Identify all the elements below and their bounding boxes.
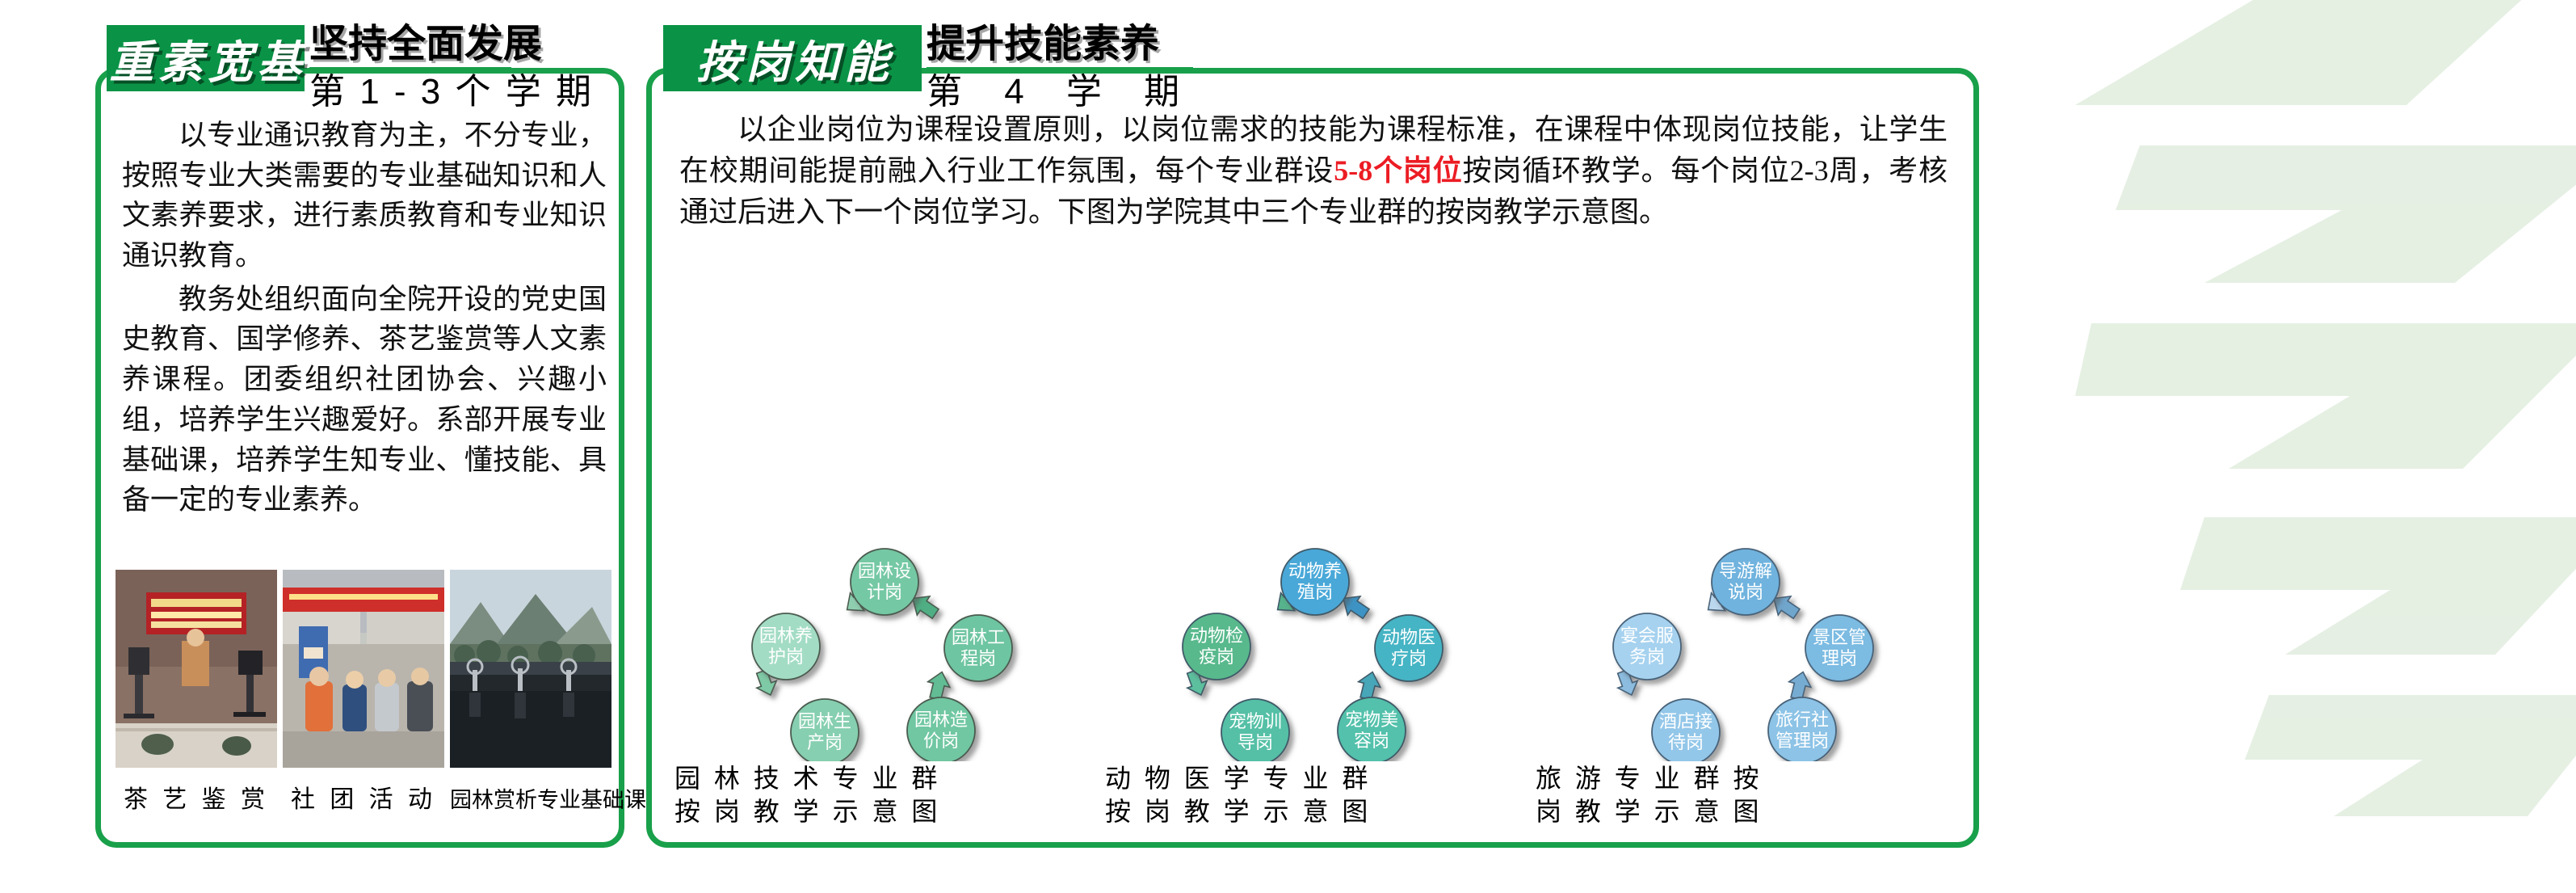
svg-text:产岗: 产岗 (807, 732, 843, 752)
caption-line-1: 园 林 技 术 专 业 群 (674, 762, 1099, 795)
svg-text:计岗: 计岗 (867, 582, 902, 602)
svg-text:说岗: 说岗 (1728, 582, 1763, 602)
svg-text:旅行社: 旅行社 (1775, 710, 1829, 730)
svg-text:酒店接: 酒店接 (1659, 711, 1712, 731)
svg-text:导岗: 导岗 (1238, 732, 1273, 752)
svg-text:园林生: 园林生 (798, 711, 851, 731)
left-banner-label: 重素宽基 (107, 25, 305, 91)
caption-line-2: 岗 教 学 示 意 图 (1536, 795, 1960, 828)
svg-text:宠物训: 宠物训 (1229, 711, 1282, 731)
left-panel-header: 重素宽基 坚持全面发展 第 1 - 3 个 学 期 (107, 25, 594, 110)
svg-text:导游解: 导游解 (1719, 561, 1772, 581)
svg-text:动物养: 动物养 (1288, 561, 1342, 581)
left-paragraph-1: 以专业通识教育为主，不分专业，按照专业大类需要的专业基础知识和人文素养要求，进行… (122, 116, 607, 276)
right-banner-label: 按岗知能 (663, 25, 922, 91)
right-body-text: 以企业岗位为课程设置原则，以岗位需求的技能为课程标准，在课程中体现岗位技能，让学… (679, 109, 1948, 236)
left-panel: 重素宽基 坚持全面发展 第 1 - 3 个 学 期 以专业通识教育为主，不分专业… (95, 68, 624, 848)
photo-strip (116, 570, 612, 768)
cycle-caption-row: 园 林 技 术 专 业 群 按 岗 教 学 示 意 图 动 物 医 学 专 业 … (668, 762, 1960, 831)
highlight-post-count: 5-8个岗位 (1334, 154, 1462, 187)
svg-text:动物医: 动物医 (1382, 627, 1435, 647)
right-panel-header: 按岗知能 提升技能素养 第 4 学 期 (663, 25, 1196, 110)
right-title-stack: 提升技能素养 第 4 学 期 (927, 25, 1196, 110)
right-paragraph: 以企业岗位为课程设置原则，以岗位需求的技能为课程标准，在课程中体现岗位技能，让学… (679, 109, 1948, 233)
svg-text:园林设: 园林设 (858, 561, 911, 581)
svg-text:理岗: 理岗 (1822, 648, 1857, 668)
caption-line-1: 动 物 医 学 专 业 群 (1105, 762, 1529, 795)
caption-tea-ceremony: 茶 艺 鉴 赏 (116, 776, 277, 824)
svg-text:疫岗: 疫岗 (1199, 647, 1234, 667)
svg-text:程岗: 程岗 (960, 648, 996, 668)
right-panel: 按岗知能 提升技能素养 第 4 学 期 以企业岗位为课程设置原则，以岗位需求的技… (646, 68, 1979, 848)
caption-line-1: 旅 游 专 业 群 按 (1536, 762, 1960, 795)
svg-text:动物检: 动物检 (1190, 626, 1243, 646)
tea-ceremony-photo (116, 570, 277, 768)
infographic-page: 重素宽基 坚持全面发展 第 1 - 3 个 学 期 以专业通识教育为主，不分专业… (0, 0, 2576, 893)
cycle-diagram-group: 园林设计岗 园林工程岗 园林造价岗 园林生产岗 园林养护岗 (668, 543, 1960, 761)
svg-text:待岗: 待岗 (1668, 732, 1704, 752)
svg-text:园林工: 园林工 (952, 627, 1005, 647)
svg-text:务岗: 务岗 (1629, 647, 1665, 667)
caption-animal-medicine-cycle: 动 物 医 学 专 业 群 按 岗 教 学 示 意 图 (1099, 762, 1529, 831)
svg-text:价岗: 价岗 (923, 731, 959, 751)
photo-caption-row: 茶 艺 鉴 赏 社 团 活 动 园林赏析专业基础课 (116, 776, 612, 824)
left-paragraph-2: 教务处组织面向全院开设的党史国史教育、国学修养、茶艺鉴赏等人文素养课程。团委组织… (122, 280, 607, 520)
svg-text:景区管: 景区管 (1813, 627, 1866, 647)
caption-line-2: 按 岗 教 学 示 意 图 (674, 795, 1099, 828)
svg-text:园林养: 园林养 (759, 626, 813, 646)
landscape-technology-cycle: 园林设计岗 园林工程岗 园林造价岗 园林生产岗 园林养护岗 (668, 543, 1099, 761)
landscape-appreciation-photo (450, 570, 611, 768)
svg-text:宴会服: 宴会服 (1620, 626, 1674, 646)
caption-landscape-technology-cycle: 园 林 技 术 专 业 群 按 岗 教 学 示 意 图 (668, 762, 1099, 831)
svg-text:容岗: 容岗 (1354, 731, 1389, 751)
right-title-sub: 第 4 学 期 (927, 74, 1196, 110)
animal-medicine-cycle: 动物养殖岗 动物医疗岗 宠物美容岗 宠物训导岗 动物检疫岗 (1099, 543, 1529, 761)
caption-line-2: 按 岗 教 学 示 意 图 (1105, 795, 1529, 828)
right-title-divider (927, 67, 1193, 71)
left-body-text: 以专业通识教育为主，不分专业，按照专业大类需要的专业基础知识和人文素养要求，进行… (122, 116, 607, 524)
svg-text:护岗: 护岗 (768, 647, 804, 667)
svg-text:疗岗: 疗岗 (1391, 648, 1427, 668)
svg-text:殖岗: 殖岗 (1297, 582, 1333, 602)
svg-text:园林造: 园林造 (914, 710, 968, 730)
tourism-cycle: 导游解说岗 景区管理岗 旅行社管理岗 酒店接待岗 宴会服务岗 (1529, 543, 1960, 761)
svg-text:管理岗: 管理岗 (1775, 731, 1829, 751)
svg-text:宠物美: 宠物美 (1345, 710, 1398, 730)
club-activity-photo (283, 570, 444, 768)
caption-tourism-cycle: 旅 游 专 业 群 按 岗 教 学 示 意 图 (1529, 762, 1960, 831)
left-title-sub: 第 1 - 3 个 学 期 (309, 74, 594, 110)
left-title-divider (309, 67, 511, 71)
left-title-main: 坚持全面发展 (309, 25, 594, 64)
caption-landscape-appreciation: 园林赏析专业基础课 (450, 776, 611, 824)
left-title-stack: 坚持全面发展 第 1 - 3 个 学 期 (309, 25, 594, 110)
caption-club-activity: 社 团 活 动 (283, 776, 444, 824)
right-title-main: 提升技能素养 (927, 25, 1196, 64)
